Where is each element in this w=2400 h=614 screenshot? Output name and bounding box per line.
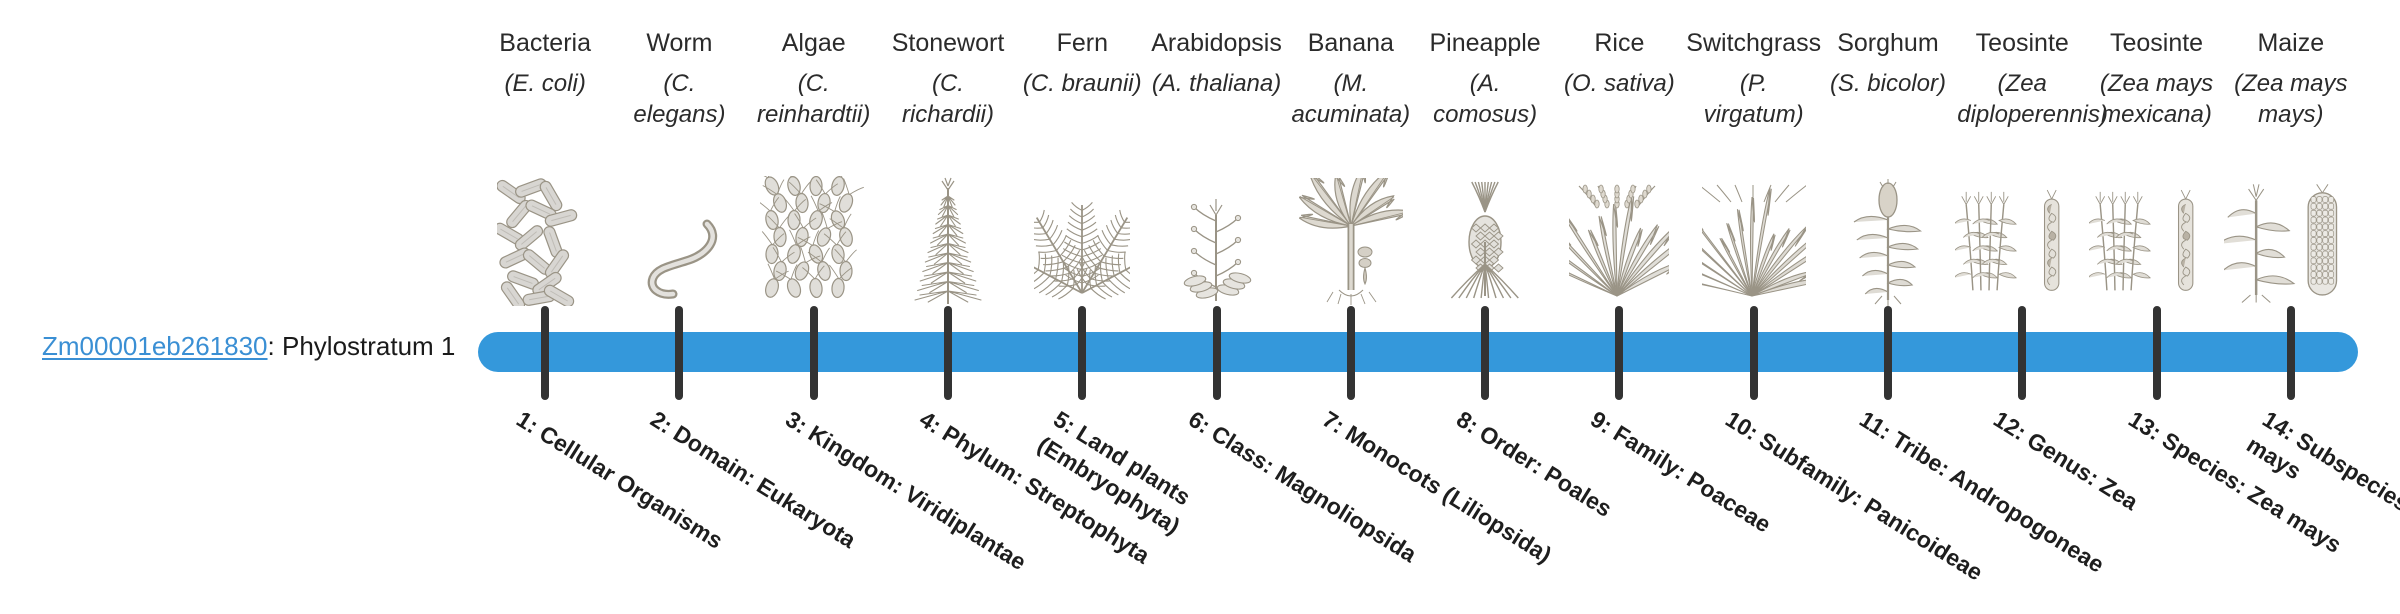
species-latin-name: (C. braunii)	[1023, 68, 1142, 99]
species-column: Sorghum (S. bicolor)	[1821, 28, 1955, 308]
species-column: Banana (M. acuminata)	[1284, 28, 1418, 308]
species-column: Fern (C. braunii)	[1015, 28, 1149, 308]
species-latin-name: (M. acuminata)	[1286, 68, 1416, 130]
species-illustration-maize	[2224, 176, 2358, 306]
species-common-name: Sorghum	[1837, 28, 1938, 58]
gene-phylostratum-label: Zm00001eb261830: Phylostratum 1	[42, 330, 455, 362]
species-latin-name: (O. sativa)	[1564, 68, 1675, 99]
species-latin-name: (Zea mays mays)	[2226, 68, 2356, 130]
species-latin-name: (C. richardii)	[883, 68, 1013, 130]
species-illustration-sorghum	[1821, 176, 1955, 306]
taxonomy-rank-label: 12: Genus: Zea	[1988, 404, 2258, 588]
species-latin-name: (Zea diploperennis)	[1957, 68, 2087, 130]
species-latin-name: (Zea mays mexicana)	[2092, 68, 2222, 130]
rank-index: 6:	[1184, 406, 1215, 439]
species-latin-name: (A. thaliana)	[1152, 68, 1281, 99]
taxonomy-rank-label: 2: Domain: Eukaryota	[646, 404, 916, 588]
species-column: Algae (C. reinhardtii)	[747, 28, 881, 308]
species-common-name: Teosinte	[1976, 28, 2069, 58]
species-column: Maize (Zea mays mays)	[2224, 28, 2358, 308]
rank-index: 3:	[781, 406, 812, 439]
taxonomy-rank-label: 7: Monocots (Liliopsida)	[1317, 404, 1587, 588]
species-common-name: Worm	[646, 28, 712, 58]
species-common-name: Algae	[782, 28, 846, 58]
species-column-row: Bacteria (E. coli)	[478, 28, 2358, 308]
species-column: Switchgrass (P. virgatum)	[1687, 28, 1821, 308]
species-common-name: Fern	[1057, 28, 1108, 58]
phylostratum-figure: Zm00001eb261830: Phylostratum 1 Bacteria…	[0, 0, 2400, 580]
species-illustration-switchgrass	[1687, 176, 1821, 306]
taxonomy-rank-label: 10: Subfamily: Panicoideae	[1720, 404, 1990, 588]
species-common-name: Banana	[1308, 28, 1394, 58]
rank-index: 12:	[1989, 406, 2031, 446]
taxonomy-rank-label-group: 1: Cellular Organisms2: Domain: Eukaryot…	[478, 404, 2358, 580]
taxonomy-rank-label: 1: Cellular Organisms	[511, 404, 781, 588]
species-common-name: Maize	[2257, 28, 2324, 58]
rank-index: 11:	[1855, 406, 1896, 445]
species-common-name: Bacteria	[499, 28, 591, 58]
species-illustration-fern	[1015, 176, 1149, 306]
species-latin-name: (E. coli)	[504, 68, 585, 99]
species-common-name: Stonewort	[892, 28, 1005, 58]
species-latin-name: (A. comosus)	[1420, 68, 1550, 130]
rank-name: Subfamily: Panicoideae	[1754, 427, 1987, 586]
taxonomy-rank-label: 9: Family: Poaceae	[1586, 404, 1856, 588]
species-latin-name: (C. elegans)	[614, 68, 744, 130]
species-illustration-arabidopsis	[1149, 176, 1283, 306]
gene-label-separator: :	[268, 331, 282, 361]
species-illustration-stonewort	[881, 176, 1015, 306]
species-column: Arabidopsis (A. thaliana)	[1149, 28, 1283, 308]
taxonomy-rank-label: 3: Kingdom: Viridiplantae	[780, 404, 1050, 588]
gene-id-link[interactable]: Zm00001eb261830	[42, 331, 268, 361]
species-latin-name: (C. reinhardtii)	[749, 68, 879, 130]
species-latin-name: (S. bicolor)	[1830, 68, 1946, 99]
phylostratum-bar[interactable]	[478, 332, 2358, 372]
rank-index: 7:	[1318, 406, 1349, 439]
species-column: Rice (O. sativa)	[1552, 28, 1686, 308]
species-latin-name: (P. virgatum)	[1689, 68, 1819, 130]
species-common-name: Pineapple	[1430, 28, 1541, 58]
species-common-name: Rice	[1594, 28, 1644, 58]
species-common-name: Arabidopsis	[1151, 28, 1282, 58]
species-illustration-algae	[747, 176, 881, 306]
rank-index: 10:	[1721, 406, 1763, 446]
rank-name: Genus: Zea	[2023, 427, 2143, 515]
species-common-name: Teosinte	[2110, 28, 2203, 58]
taxonomy-rank-label: 8: Order: Poales	[1451, 404, 1721, 588]
phylostratum-value: Phylostratum 1	[282, 331, 455, 361]
species-illustration-worm	[612, 176, 746, 306]
species-illustration-rice	[1552, 176, 1686, 306]
species-common-name: Switchgrass	[1686, 28, 1821, 58]
species-column: Stonewort (C. richardii)	[881, 28, 1015, 308]
species-illustration-teosinte	[1955, 176, 2089, 306]
species-illustration-banana	[1284, 176, 1418, 306]
species-column: Bacteria (E. coli)	[478, 28, 612, 308]
species-column: Worm (C. elegans)	[612, 28, 746, 308]
rank-index: 13:	[2124, 406, 2166, 446]
species-column: Pineapple (A. comosus)	[1418, 28, 1552, 308]
species-illustration-bacteria	[478, 176, 612, 306]
taxonomy-rank-label: 11: Tribe: Andropogoneae	[1854, 404, 2124, 588]
rank-name: Kingdom: Viridiplantae	[804, 420, 1031, 575]
species-illustration-pineapple	[1418, 176, 1552, 306]
species-illustration-teosinte	[2089, 176, 2223, 306]
species-column: Teosinte (Zea mays mexicana)	[2089, 28, 2223, 308]
species-column: Teosinte (Zea diploperennis)	[1955, 28, 2089, 308]
